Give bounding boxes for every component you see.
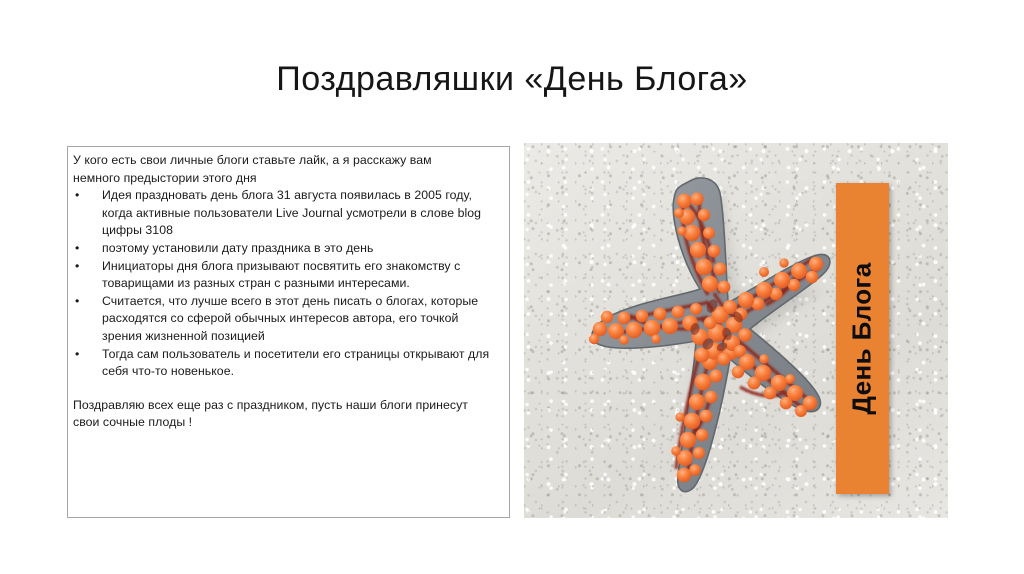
list-item-label: Идея праздновать день блога 31 августа п… <box>102 188 481 237</box>
bullet-icon: • <box>75 240 79 258</box>
list-item-label: Инициаторы дня блога призывают посвятить… <box>102 259 460 291</box>
bullet-icon: • <box>75 293 79 311</box>
banner-label: День Блога <box>847 262 878 414</box>
content-text-box: У кого есть свои личные блоги ставьте ла… <box>67 146 510 518</box>
intro-line-1: У кого есть свои личные блоги ставьте ла… <box>73 152 501 170</box>
bullet-icon: • <box>75 346 79 364</box>
list-item-label: Тогда сам пользователь и посетители его … <box>102 347 489 379</box>
closing-line-2: свои сочные плоды ! <box>73 414 501 432</box>
bullet-icon: • <box>75 258 79 276</box>
list-item-label: поэтому установили дату праздника в это … <box>102 241 373 255</box>
list-item: • Инициаторы дня блога призывают посвяти… <box>73 258 501 293</box>
bullet-icon: • <box>75 187 79 205</box>
list-item: • Идея праздновать день блога 31 августа… <box>73 187 501 240</box>
slide: Поздравляшки «День Блога» У кого есть св… <box>0 0 1024 574</box>
closing-line-1: Поздравляю всех еще раз с праздником, пу… <box>73 397 501 415</box>
vertical-caption-banner: День Блога <box>836 183 889 494</box>
list-item: • Тогда сам пользователь и посетители ег… <box>73 346 501 381</box>
paragraph-spacer <box>73 381 501 397</box>
bullet-list: • Идея праздновать день блога 31 августа… <box>73 187 501 381</box>
list-item: • поэтому установили дату праздника в эт… <box>73 240 501 258</box>
page-title: Поздравляшки «День Блога» <box>0 58 1024 100</box>
list-item: • Считается, что лучше всего в этот день… <box>73 293 501 346</box>
intro-line-2: немного предыстории этого дня <box>73 170 501 188</box>
list-item-label: Считается, что лучше всего в этот день п… <box>102 294 478 343</box>
